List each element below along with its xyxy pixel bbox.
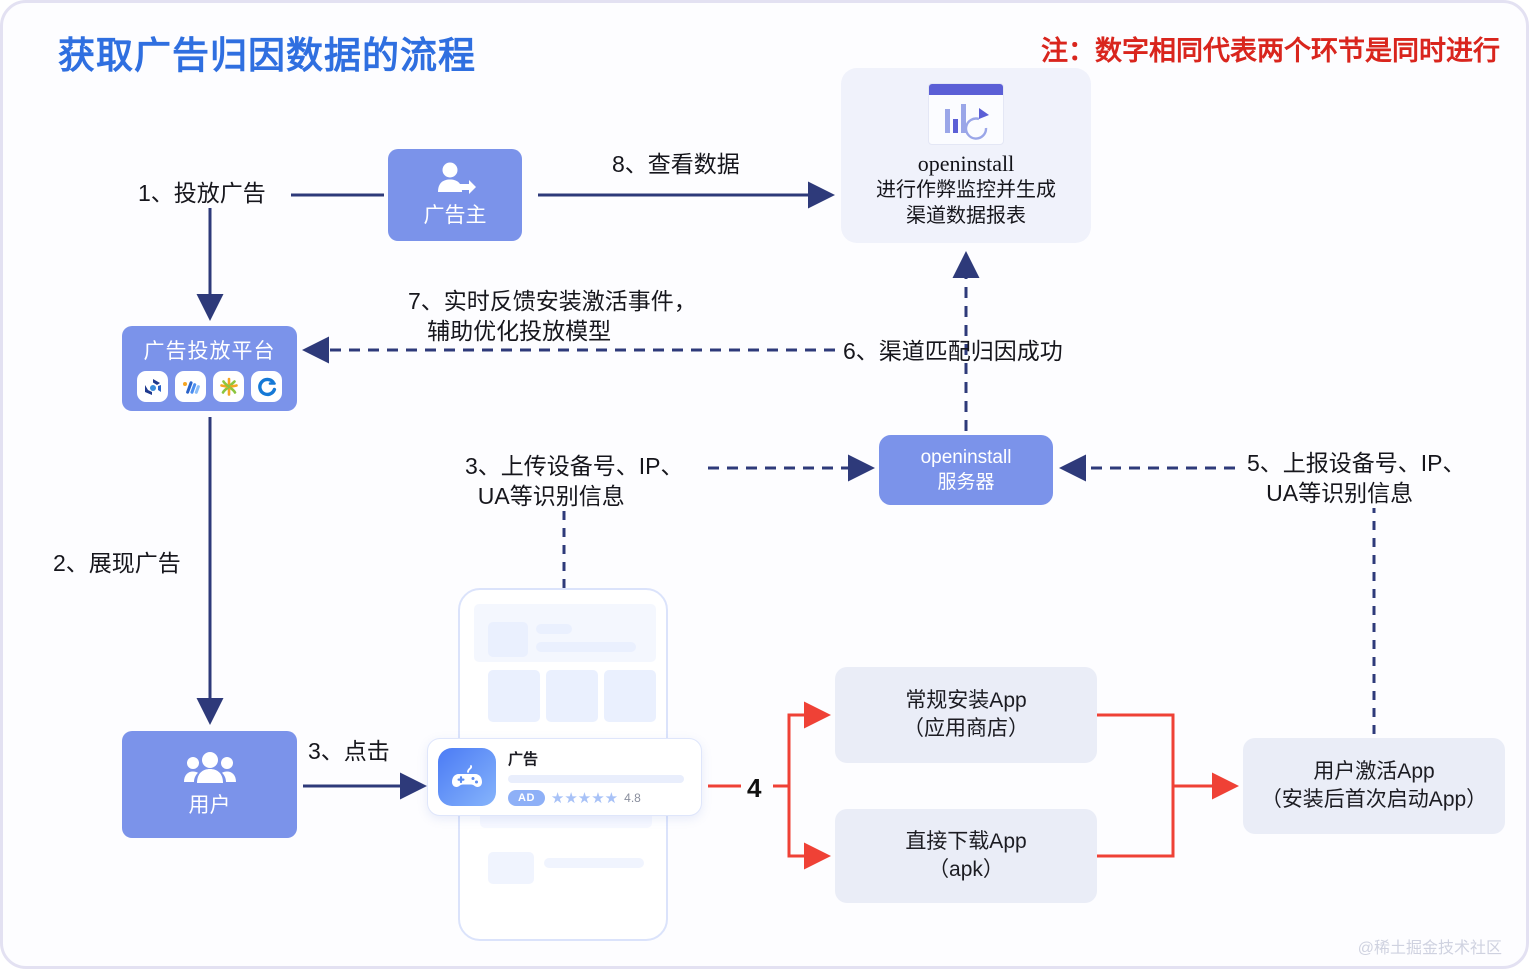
edge-label-step2: 2、展现广告	[53, 548, 181, 578]
node-ad-platform[interactable]: 广告投放平台	[122, 326, 297, 411]
platform-logo-row	[137, 371, 282, 402]
node-user-label: 用户	[189, 789, 231, 819]
diagram-canvas: 获取广告归因数据的流程 注：数字相同代表两个环节是同时进行 @稀土掘金技术社区 …	[0, 0, 1529, 969]
node-user[interactable]: 用户	[122, 731, 297, 838]
node-advertiser[interactable]: 广告主	[388, 149, 522, 241]
node-openinstall-server-line2: 服务器	[937, 470, 994, 495]
node-openinstall-line2: 渠道数据报表	[906, 203, 1026, 229]
node-openinstall-dashboard[interactable]: openinstall 进行作弊监控并生成 渠道数据报表	[841, 68, 1091, 243]
edge-label-step7: 7、实时反馈安装激活事件， 辅助优化投放模型	[408, 286, 697, 347]
node-install-apk-line2: （apk）	[928, 856, 1004, 884]
edge-label-step1: 1、投放广告	[138, 178, 266, 208]
edge-label-step3-click: 3、点击	[308, 736, 390, 766]
ad-card-placeholder-line	[508, 775, 684, 783]
edge-label-step4: 4	[747, 771, 761, 805]
edge-label-step6: 6、渠道匹配归因成功	[843, 336, 1063, 366]
baidu-ads-logo	[175, 371, 206, 402]
node-install-store[interactable]: 常规安装App （应用商店）	[835, 667, 1097, 763]
note-text: 注：数字相同代表两个环节是同时进行	[1041, 29, 1500, 68]
node-install-store-line2: （应用商店）	[903, 715, 1029, 743]
edge-label-step8: 8、查看数据	[612, 149, 740, 179]
node-install-store-line1: 常规安装App	[905, 687, 1026, 715]
node-openinstall-name: openinstall	[918, 151, 1015, 177]
rating-score: 4.8	[624, 791, 641, 805]
user-arrow-icon	[433, 161, 477, 197]
node-advertiser-label: 广告主	[424, 199, 487, 229]
ad-card-meta: AD ★★★★★ 4.8	[508, 789, 691, 807]
ad-card-title: 广告	[508, 748, 691, 769]
node-openinstall-line1: 进行作弊监控并生成	[876, 177, 1056, 203]
page-title: 获取广告归因数据的流程	[58, 25, 476, 79]
node-activate-app[interactable]: 用户激活App （安装后首次启动App）	[1243, 738, 1505, 834]
rating-stars: ★★★★★	[551, 789, 618, 807]
watermark: @稀土掘金技术社区	[1358, 934, 1502, 958]
ad-badge: AD	[508, 790, 545, 806]
ad-card[interactable]: 广告 AD ★★★★★ 4.8	[427, 738, 702, 816]
analytics-dashboard-icon	[928, 83, 1004, 145]
tencent-ads-logo	[137, 371, 168, 402]
kuaishou-ads-logo	[213, 371, 244, 402]
game-controller-icon	[438, 748, 496, 806]
edge-label-step3-upload: 3、上传设备号、IP、 UA等识别信息	[465, 451, 684, 512]
node-openinstall-server[interactable]: openinstall 服务器	[879, 435, 1053, 505]
users-group-icon	[184, 751, 236, 785]
ad-card-body: 广告 AD ★★★★★ 4.8	[508, 748, 691, 807]
node-openinstall-server-line1: openinstall	[921, 445, 1012, 470]
node-activate-line2: （安装后首次启动App）	[1261, 786, 1487, 814]
node-install-apk-line1: 直接下载App	[905, 828, 1026, 856]
node-ad-platform-label: 广告投放平台	[144, 335, 276, 365]
edge-label-step5: 5、上报设备号、IP、 UA等识别信息	[1247, 448, 1466, 509]
node-install-apk[interactable]: 直接下载App （apk）	[835, 809, 1097, 903]
uc-ads-logo	[251, 371, 282, 402]
node-activate-line1: 用户激活App	[1313, 758, 1434, 786]
